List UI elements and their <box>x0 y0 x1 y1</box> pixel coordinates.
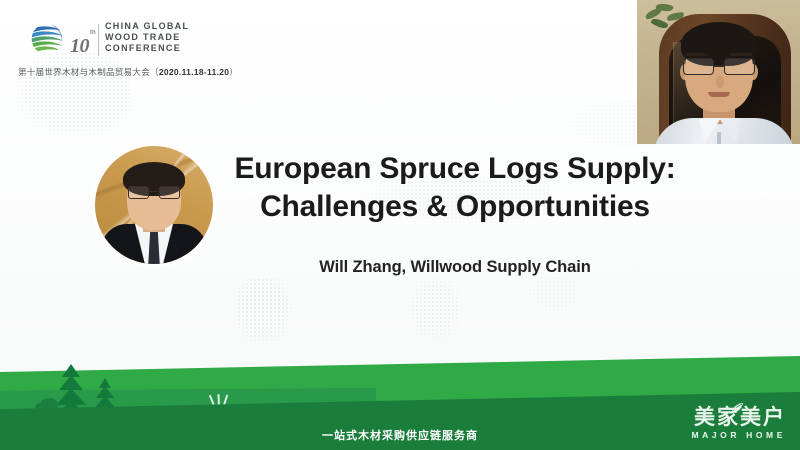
logo-english-line-3: CONFERENCE <box>105 43 189 54</box>
title-line-1: European Spruce Logs Supply: <box>215 150 695 188</box>
title-line-2: Challenges & Opportunities <box>215 188 695 226</box>
globe-icon <box>29 21 65 57</box>
logo-chinese-text-end: ） <box>229 67 238 77</box>
sponsor-english-name: MAJOR HOME <box>691 430 786 440</box>
presenter-video-feed <box>663 22 785 144</box>
page-title: European Spruce Logs Supply: Challenges … <box>215 150 695 226</box>
logo-chinese-name: 第十届世界木材与木制品贸易大会（2020.11.18-11.20） <box>18 66 238 78</box>
webcam-overlay[interactable] <box>637 0 800 144</box>
sponsor-logo: 美家美户 MAJOR HOME <box>668 405 788 445</box>
presenter-shirt-placket <box>717 132 721 144</box>
speaker-portrait <box>95 146 213 264</box>
presenter-eyebrow-right <box>730 53 752 56</box>
portrait-glasses-icon <box>128 186 180 199</box>
logo-edition-suffix: th <box>90 30 96 36</box>
logo-divider <box>98 24 99 56</box>
logo-edition-number: 10 <box>70 35 89 58</box>
logo-chinese-text: 第十届世界木材与木制品贸易大会（ <box>18 67 159 77</box>
logo-english-line-1: CHINA GLOBAL <box>105 21 189 32</box>
presenter-subtitle: Will Zhang, Willwood Supply Chain <box>215 258 695 277</box>
presentation-screen: 10 th CHINA GLOBAL WOOD TRADE CONFERENCE… <box>0 0 800 450</box>
logo-english-line-2: WOOD TRADE <box>105 32 189 43</box>
world-map-watermark <box>395 276 475 356</box>
conference-logo: 10 th CHINA GLOBAL WOOD TRADE CONFERENCE… <box>10 8 210 74</box>
logo-conference-date: 2020.11.18-11.20 <box>159 67 230 77</box>
world-map-watermark <box>225 278 315 370</box>
presenter-glasses-icon <box>683 58 755 75</box>
presenter-eyebrow-left <box>686 53 708 56</box>
presenter-mouth <box>708 92 730 97</box>
logo-english-name: CHINA GLOBAL WOOD TRADE CONFERENCE <box>105 21 189 54</box>
presenter-nose <box>716 76 724 88</box>
sponsor-chinese-name: 美家美户 <box>694 405 786 429</box>
